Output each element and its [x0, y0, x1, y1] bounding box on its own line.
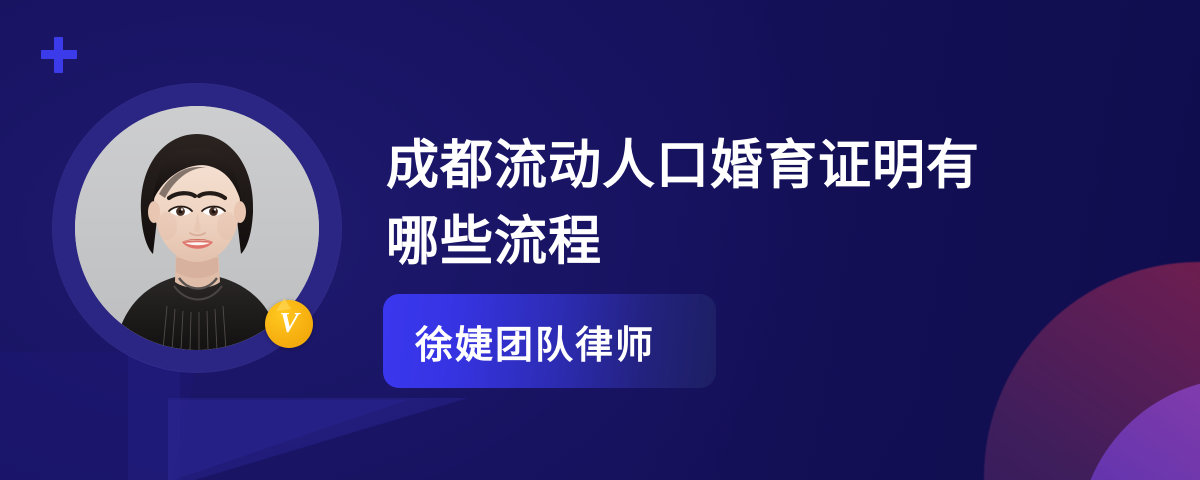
- verified-badge-icon: V: [265, 300, 313, 348]
- avatar[interactable]: V: [53, 84, 341, 372]
- page-title: 成都流动人口婚育证明有 哪些流程: [386, 128, 1086, 280]
- lawyer-team-button[interactable]: 徐婕团队律师: [383, 294, 716, 388]
- plus-icon: [41, 37, 77, 73]
- lawyer-promo-banner: V 成都流动人口婚育证明有 哪些流程 徐婕团队律师: [0, 0, 1200, 480]
- decorative-triangle-bottom-2: [168, 400, 408, 480]
- verified-mark: V: [279, 309, 298, 338]
